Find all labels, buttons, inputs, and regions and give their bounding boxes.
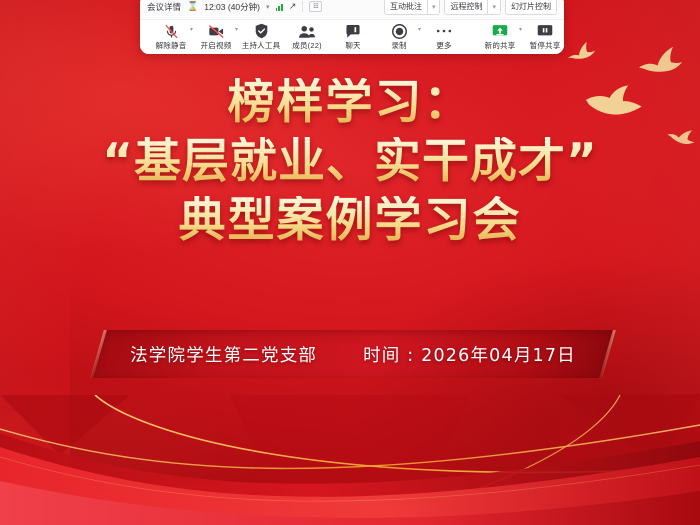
slide-control-chip[interactable]: 幻灯片控制 [505,0,557,15]
dove-icon-1 [564,38,599,66]
meeting-details-button[interactable]: 会议详情 [147,1,181,13]
remote-control-chip-group[interactable]: 远程控制 ▾ [444,0,501,15]
host-tools-button[interactable]: 主持人工具 [238,24,284,51]
dove-icon-2 [636,45,684,81]
subtitle-banner: 法学院学生第二党支部 时间 : 2026年04月17日 [98,330,608,378]
presentation-slide: 榜样学习： “基层就业、实干成才” 典型案例学习会 法学院学生第二党支部 时间 … [0,0,700,525]
record-button[interactable]: 录制 [376,24,422,51]
meeting-toolbar-panel[interactable]: 会议详情 ⌛ 12:03 (40分钟) ▾ ↗ ☷ 互动批注 ▾ 远程控制 ▾ … [140,0,564,54]
new-share-button[interactable]: 新的共享 [477,24,523,51]
network-quality-icon[interactable]: ☷ [309,1,322,12]
pause-share-button[interactable]: 暂停共享 [522,24,564,51]
chat-button[interactable]: 聊天 [330,24,376,51]
annotation-chip[interactable]: 互动批注 [384,0,427,15]
participants-icon [298,24,316,39]
new-share-label: 新的共享 [485,40,516,51]
toolbar-bottom-row: 解除静音 ▾ 开启视频 ▾ [140,20,564,54]
hourglass-icon: ⌛ [187,1,198,12]
more-label: 更多 [436,40,451,51]
annotation-chip-group[interactable]: 互动批注 ▾ [384,0,441,15]
start-video-button[interactable]: 开启视频 [193,24,239,51]
date-label: 时间 : 2026年04月17日 [363,342,576,367]
microphone-muted-icon [164,24,179,39]
start-video-button-wrap[interactable]: 开启视频 ▾ [193,24,238,51]
record-button-wrap[interactable]: 录制 ▾ [376,24,421,51]
title-line-2: “基层就业、实干成才” [0,137,700,187]
more-button[interactable]: 更多 [421,24,467,51]
pause-share-icon [537,24,553,39]
participants-button[interactable]: 成员(22) [284,24,330,51]
title-line-3: 典型案例学习会 [0,196,700,246]
more-dots-icon [436,24,452,39]
pause-share-label: 暂停共享 [530,40,561,51]
start-video-label: 开启视频 [201,40,232,51]
record-label: 录制 [391,40,406,51]
toolbar-top-row: 会议详情 ⌛ 12:03 (40分钟) ▾ ↗ ☷ 互动批注 ▾ 远程控制 ▾ … [140,0,564,20]
toolbar-divider [302,1,303,12]
popout-icon[interactable]: ↗ [289,1,297,12]
timer-chevron-down-icon[interactable]: ▾ [266,3,270,11]
chat-icon [345,24,361,39]
annotation-chevron-down-icon[interactable]: ▾ [427,0,441,15]
new-share-icon [492,24,508,39]
signal-bars-icon[interactable] [276,3,283,11]
remote-control-chevron-down-icon[interactable]: ▾ [487,0,501,15]
title-line-1: 榜样学习： [0,78,700,128]
toolbar-top-right-group: 互动批注 ▾ 远程控制 ▾ 幻灯片控制 [384,0,557,15]
unmute-button[interactable]: 解除静音 [148,24,194,51]
unmute-label: 解除静音 [156,40,187,51]
chat-label: 聊天 [345,40,360,51]
bottom-ribbon-decor [0,395,700,525]
shield-icon [254,24,269,39]
meeting-timer: 12:03 (40分钟) [204,1,260,13]
new-share-button-wrap[interactable]: 新的共享 ▾ [477,24,522,51]
host-tools-label: 主持人工具 [242,40,281,51]
camera-off-icon [208,24,225,39]
unmute-button-wrap[interactable]: 解除静音 ▾ [148,24,193,51]
record-icon [392,24,407,39]
slide-title-block: 榜样学习： “基层就业、实干成才” 典型案例学习会 [0,78,700,245]
remote-control-chip[interactable]: 远程控制 [444,0,487,15]
organization-label: 法学院学生第二党支部 [130,342,317,367]
participants-label: 成员(22) [292,40,322,51]
